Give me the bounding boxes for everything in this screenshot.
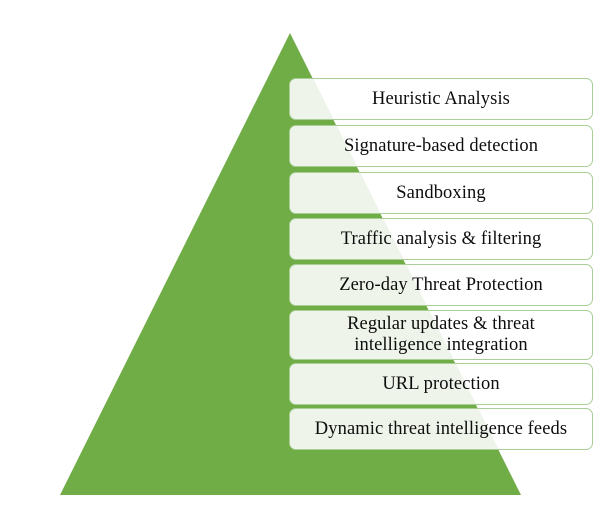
layer-box-8[interactable]: Dynamic threat intelligence feeds [289,408,593,450]
layer-box-7[interactable]: URL protection [289,363,593,405]
layer-box-6[interactable]: Regular updates & threat intelligence in… [289,310,593,360]
layer-label-5: Zero-day Threat Protection [331,275,551,296]
pyramid-diagram: Heuristic Analysis Signature-based detec… [0,0,608,517]
layer-label-8: Dynamic threat intelligence feeds [307,419,575,440]
layer-label-7: URL protection [374,374,507,395]
layer-box-2[interactable]: Signature-based detection [289,125,593,167]
layer-label-3: Sandboxing [388,183,493,204]
layer-label-1: Heuristic Analysis [364,89,518,110]
layer-label-2: Signature-based detection [336,136,546,157]
layer-label-6: Regular updates & threat intelligence in… [339,314,543,355]
layer-box-4[interactable]: Traffic analysis & filtering [289,218,593,260]
layer-box-1[interactable]: Heuristic Analysis [289,78,593,120]
layer-label-4: Traffic analysis & filtering [333,229,550,250]
layer-box-3[interactable]: Sandboxing [289,172,593,214]
layer-box-5[interactable]: Zero-day Threat Protection [289,264,593,306]
